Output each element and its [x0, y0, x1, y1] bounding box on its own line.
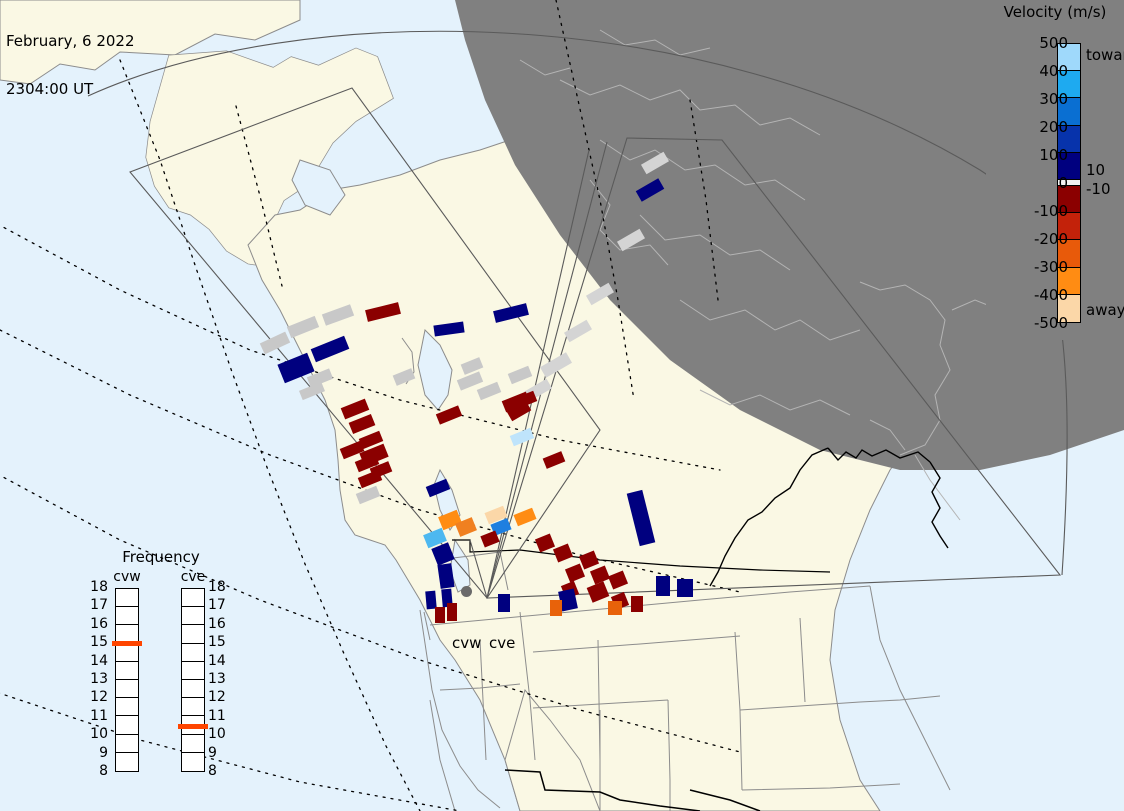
radar-map-figure: February, 6 2022 2304:00 UT Velocity (m/… [0, 0, 1124, 811]
gauge-scale-left-15: 15 [86, 637, 108, 647]
gauge-scale-left-18: 18 [86, 582, 108, 592]
title-date: February, 6 2022 [6, 33, 135, 49]
gauge-cell [182, 753, 204, 771]
colorbar-tick-0: 0 [1018, 176, 1068, 190]
frequency-panel: Frequency cvw cve 18171615141312111098 1… [86, 548, 236, 788]
frequency-gauge-cvw [115, 588, 139, 772]
gauge-cell [116, 607, 138, 625]
frequency-title: Frequency [86, 548, 236, 566]
velocity-cell [656, 576, 670, 596]
gauge-scale-left-9: 9 [86, 748, 108, 758]
radar-site-label-cve: cve [489, 634, 515, 652]
gauge-scale-right-9: 9 [208, 748, 230, 758]
gauge-scale-left-8: 8 [86, 766, 108, 776]
gauge-cell [116, 680, 138, 698]
frequency-marker-cve [178, 724, 208, 729]
gauge-scale-right-10: 10 [208, 729, 230, 739]
gauge-cell [116, 716, 138, 734]
gauge-scale-right-14: 14 [208, 656, 230, 666]
gauge-scale-left-14: 14 [86, 656, 108, 666]
gauge-cell [182, 735, 204, 753]
gauge-cell [182, 644, 204, 662]
gauge-cell [116, 662, 138, 680]
colorbar-toward-label: toward [1086, 48, 1124, 62]
gauge-scale-right-13: 13 [208, 674, 230, 684]
gauge-cell [182, 589, 204, 607]
frequency-gauge-cve [181, 588, 205, 772]
radar-site-label-cvw: cvw [452, 634, 481, 652]
gauge-cell [116, 589, 138, 607]
velocity-cell [677, 579, 693, 597]
gauge-cell [182, 625, 204, 643]
colorbar-zero-pos-label: 10 [1086, 163, 1105, 177]
colorbar-tick--400: -400 [1018, 288, 1068, 302]
gauge-scale-left-16: 16 [86, 619, 108, 629]
gauge-cell [182, 680, 204, 698]
gauge-cell [182, 662, 204, 680]
gauge-cell [116, 644, 138, 662]
velocity-cell [498, 594, 510, 612]
gauge-scale-right-17: 17 [208, 600, 230, 610]
gauge-scale-right-8: 8 [208, 766, 230, 776]
gauge-cell [116, 698, 138, 716]
colorbar-tick-400: 400 [1018, 64, 1068, 78]
velocity-colorbar-panel: Velocity (m/s) 5004003002001000-100-200-… [986, 0, 1124, 340]
colorbar-away-label: away [1086, 303, 1124, 317]
velocity-cell [631, 596, 643, 612]
gauge-cell [116, 753, 138, 771]
title-time: 2304:00 UT [6, 81, 135, 97]
gauge-scale-left-13: 13 [86, 674, 108, 684]
velocity-cell [447, 603, 457, 621]
velocity-cell [435, 607, 445, 623]
colorbar-zero-neg-label: -10 [1086, 182, 1111, 196]
velocity-cell [425, 591, 437, 610]
velocity-cell [550, 600, 562, 616]
gauge-scale-right-18: 18 [208, 582, 230, 592]
frequency-marker-cvw [112, 641, 142, 646]
colorbar-tick--200: -200 [1018, 232, 1068, 246]
gauge-scale-left-12: 12 [86, 692, 108, 702]
colorbar-tick--100: -100 [1018, 204, 1068, 218]
gauge-cell [182, 607, 204, 625]
colorbar-title: Velocity (m/s) [986, 3, 1124, 21]
gauge-scale-left-17: 17 [86, 600, 108, 610]
gauge-cell [182, 698, 204, 716]
colorbar-tick-500: 500 [1018, 36, 1068, 50]
figure-title: February, 6 2022 2304:00 UT [6, 1, 135, 129]
radar-site-dot [461, 586, 472, 597]
colorbar-tick-100: 100 [1018, 148, 1068, 162]
gauge-scale-right-15: 15 [208, 637, 230, 647]
gauge-scale-left-11: 11 [86, 711, 108, 721]
colorbar-tick--300: -300 [1018, 260, 1068, 274]
gauge-scale-left-10: 10 [86, 729, 108, 739]
colorbar-tick-300: 300 [1018, 92, 1068, 106]
gauge-scale-right-12: 12 [208, 692, 230, 702]
gauge-scale-right-11: 11 [208, 711, 230, 721]
gauge-label-cvw: cvw [104, 569, 150, 585]
gauge-cell [116, 735, 138, 753]
velocity-cell [608, 601, 622, 615]
colorbar-tick--500: -500 [1018, 316, 1068, 330]
colorbar-tick-200: 200 [1018, 120, 1068, 134]
gauge-scale-right-16: 16 [208, 619, 230, 629]
